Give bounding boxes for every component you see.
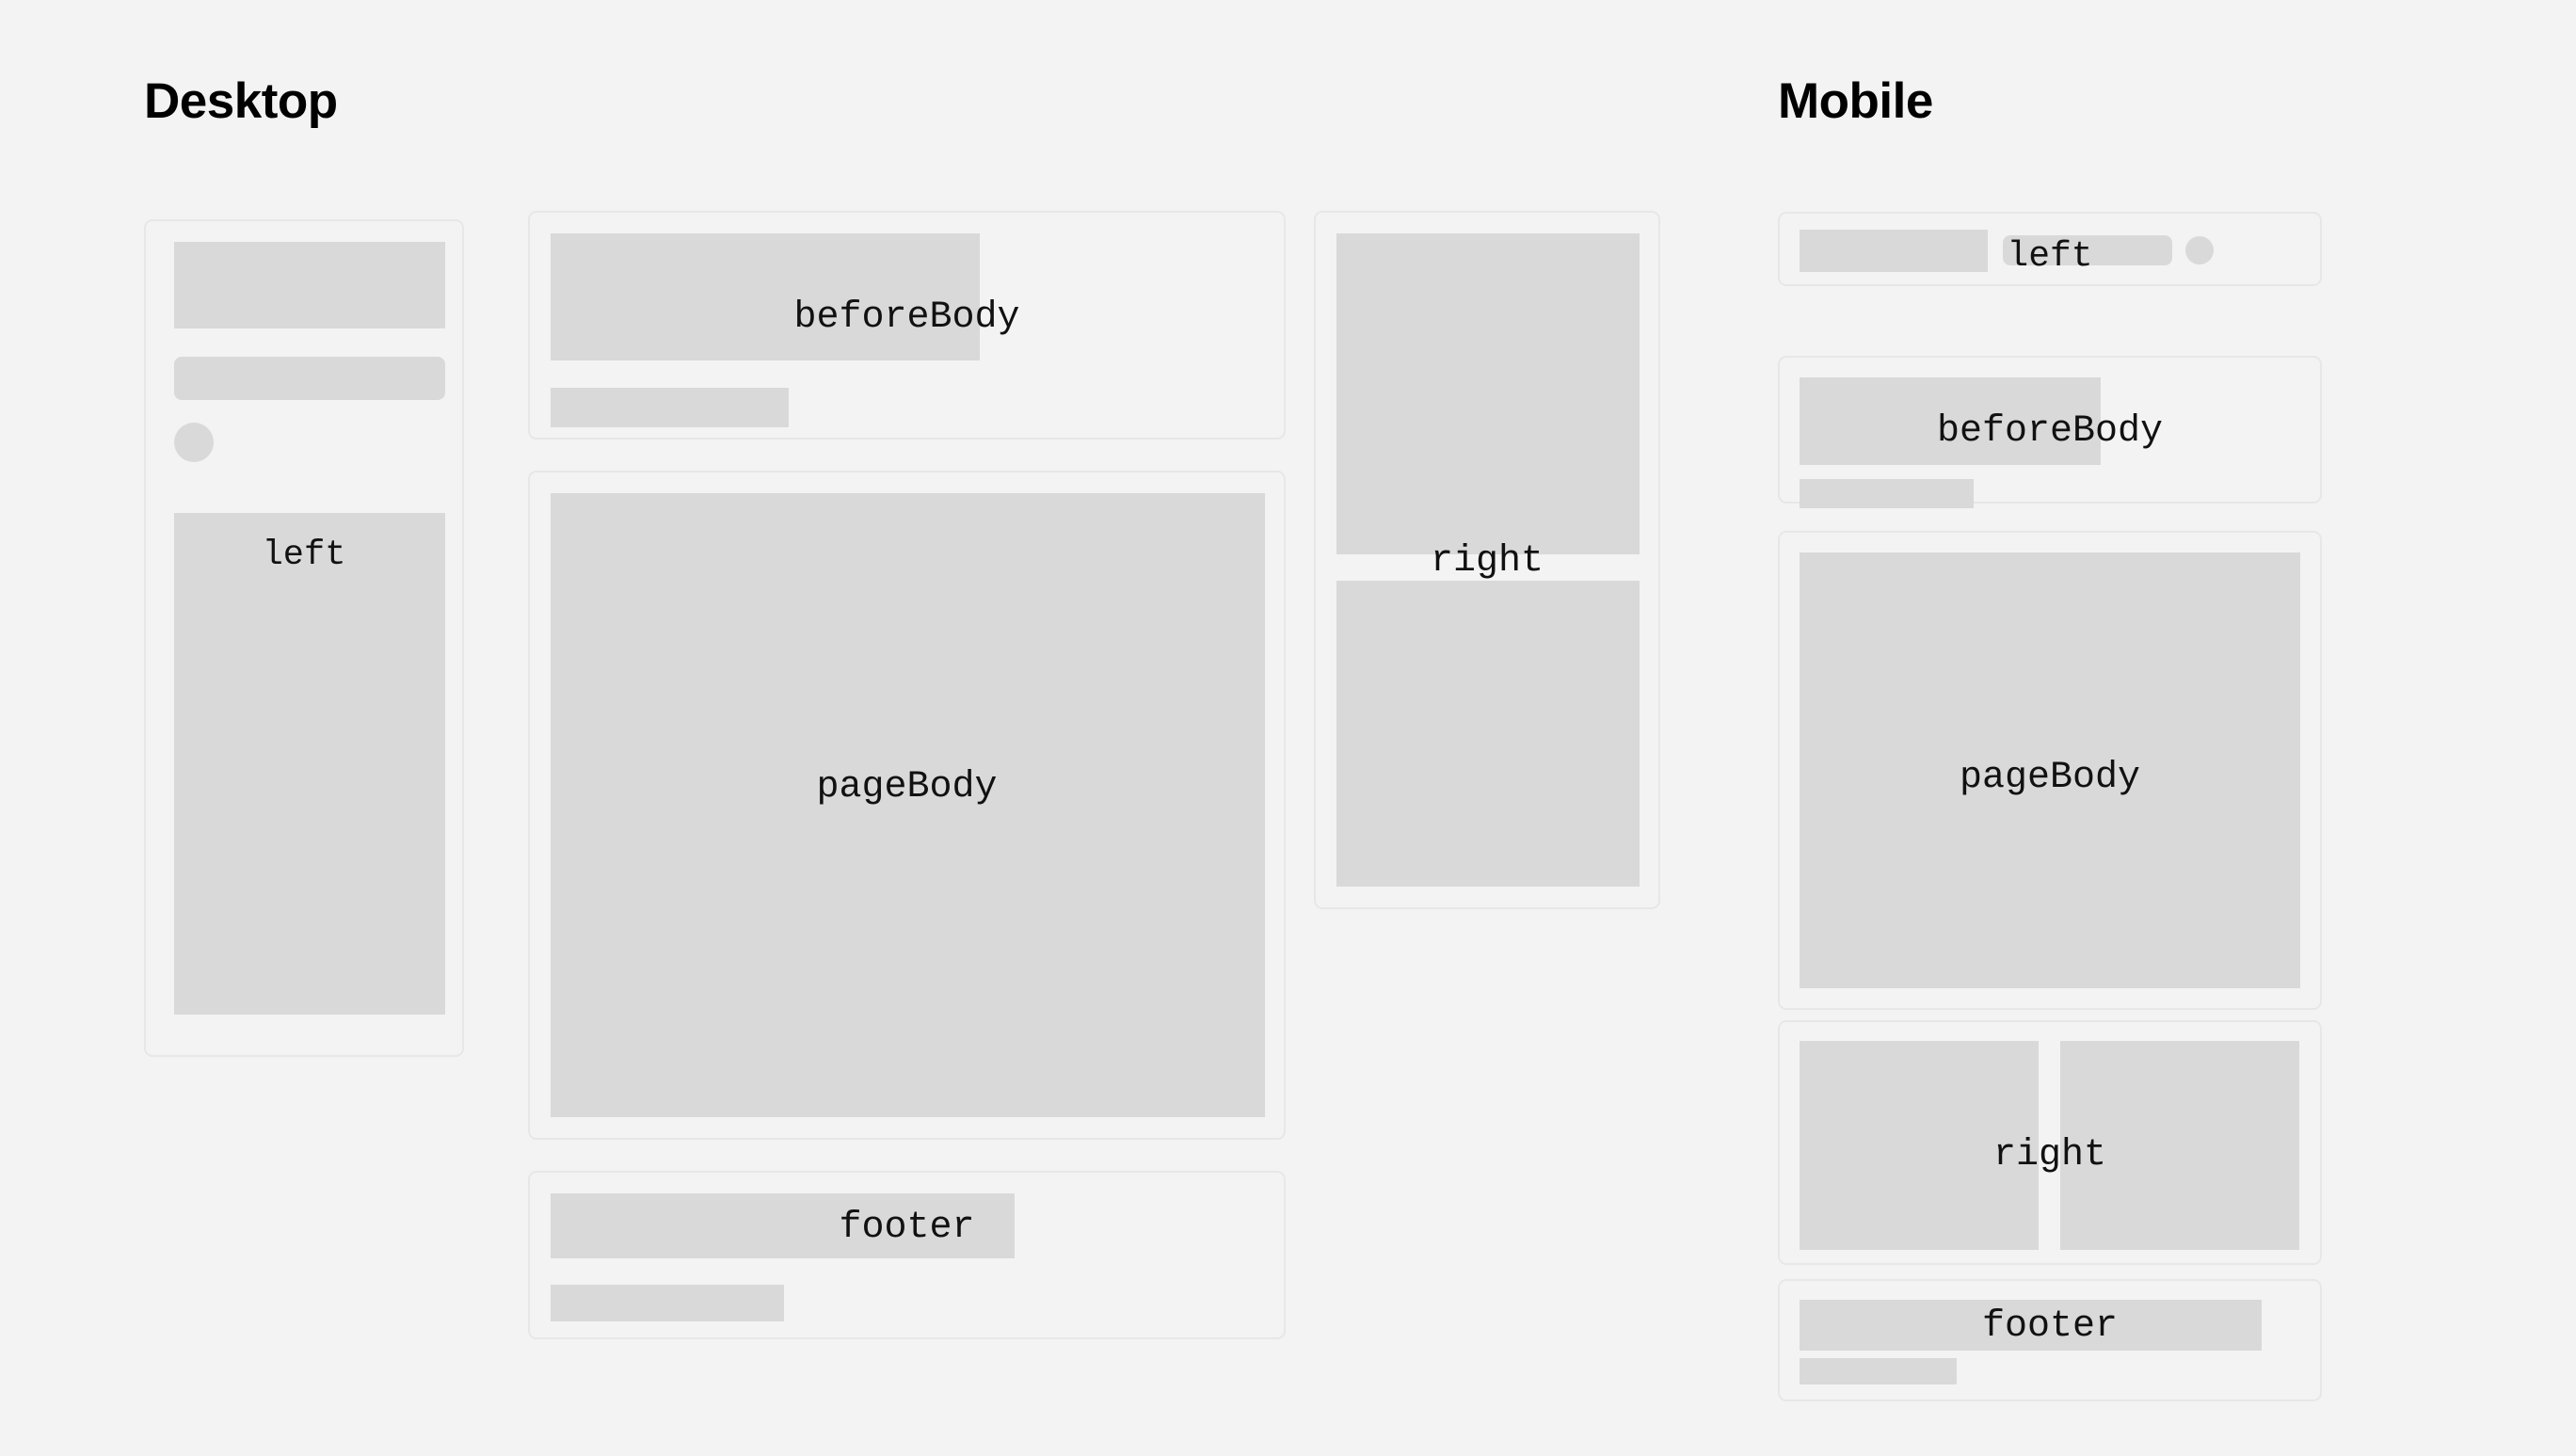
skeleton-block-wide: [1800, 377, 2101, 465]
desktop-region-beforebody-card[interactable]: [528, 211, 1286, 440]
mobile-region-left-card[interactable]: [1778, 212, 2322, 286]
skeleton-block-small-bar: [551, 388, 789, 427]
mobile-region-footer-card[interactable]: [1778, 1279, 2322, 1401]
skeleton-block-right-column: [2060, 1041, 2299, 1250]
desktop-column-title: Desktop: [144, 76, 338, 126]
desktop-region-footer-card[interactable]: [528, 1171, 1286, 1339]
skeleton-block-bar: [1800, 230, 1988, 272]
skeleton-block-square: [551, 493, 1265, 1117]
mobile-region-pagebody-card[interactable]: [1778, 531, 2322, 1010]
skeleton-block-left-column: [1800, 1041, 2039, 1250]
skeleton-block-wide-bar: [1800, 1300, 2262, 1351]
skeleton-block-tall: [174, 513, 445, 1015]
mobile-column-title: Mobile: [1778, 76, 1933, 126]
mobile-region-beforebody-card[interactable]: [1778, 356, 2322, 504]
desktop-region-left-card[interactable]: [144, 219, 464, 1057]
skeleton-block-circle: [174, 423, 214, 462]
skeleton-block-rounded-bar: [174, 357, 445, 400]
skeleton-block-wide-bar: [551, 1193, 1015, 1258]
skeleton-block-circle: [2185, 236, 2214, 264]
skeleton-block-small-bar: [1800, 1358, 1957, 1384]
skeleton-block-large: [174, 242, 445, 328]
skeleton-block-square: [1800, 552, 2300, 988]
mobile-region-right-card[interactable]: [1778, 1020, 2322, 1265]
skeleton-block-bottom: [1336, 581, 1640, 887]
skeleton-block-top: [1336, 233, 1640, 554]
skeleton-block-small-bar: [1800, 479, 1974, 508]
desktop-region-pagebody-card[interactable]: [528, 471, 1286, 1140]
skeleton-block-small-bar: [551, 1285, 784, 1321]
skeleton-block-wide: [551, 233, 980, 360]
skeleton-block-rounded-bar: [2003, 235, 2172, 265]
desktop-region-right-card[interactable]: [1314, 211, 1660, 909]
